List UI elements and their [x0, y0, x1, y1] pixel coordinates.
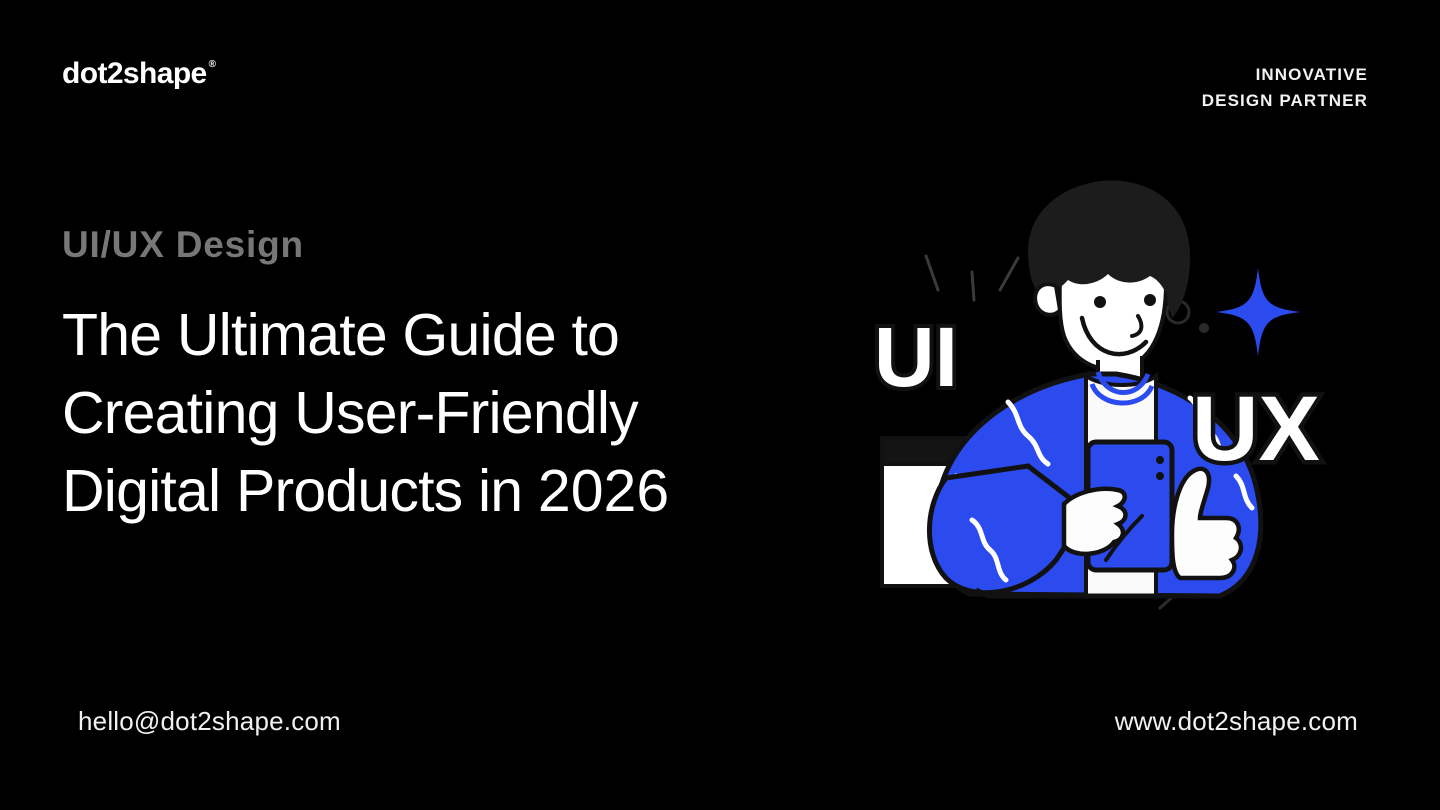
headline-line-3-prefix: Digital Products in: [62, 458, 538, 524]
slide-canvas: dot2shape ® INNOVATIVE DESIGN PARTNER UI…: [0, 0, 1440, 810]
headline-line-1: The Ultimate Guide to: [62, 296, 669, 374]
tagline-line-2: DESIGN PARTNER: [1202, 88, 1368, 114]
character-eye-left: [1094, 296, 1106, 308]
contact-email[interactable]: hello@dot2shape.com: [78, 706, 341, 737]
brand-logo-text: dot2shape: [62, 57, 207, 91]
device-dot-2: [1156, 472, 1164, 480]
label-ux-text: UX: [1192, 378, 1320, 480]
tagline: INNOVATIVE DESIGN PARTNER: [1202, 62, 1368, 113]
headline-line-2: Creating User-Friendly: [62, 374, 669, 452]
character-ear: [1035, 284, 1060, 315]
page-title: The Ultimate Guide to Creating User-Frie…: [62, 296, 669, 530]
category-eyebrow: UI/UX Design: [62, 224, 304, 266]
headline-year: 2026: [538, 458, 669, 524]
label-ui-text: UI: [874, 310, 958, 404]
label-ui: UI: [874, 310, 958, 404]
brand-logo[interactable]: dot2shape ®: [62, 57, 215, 91]
spark-lines: [926, 256, 1018, 300]
decor-dot: [1199, 323, 1209, 333]
device-dot-1: [1156, 456, 1164, 464]
character-eye-right: [1144, 294, 1156, 306]
website-url[interactable]: www.dot2shape.com: [1115, 706, 1358, 737]
tagline-line-1: INNOVATIVE: [1202, 62, 1368, 88]
headline-line-3: Digital Products in 2026: [62, 452, 669, 530]
hero-illustration: UI UX: [860, 160, 1380, 640]
registered-trademark-icon: ®: [209, 60, 216, 70]
sparkle-star-icon: [1216, 268, 1300, 356]
label-ux: UX: [1192, 378, 1320, 480]
